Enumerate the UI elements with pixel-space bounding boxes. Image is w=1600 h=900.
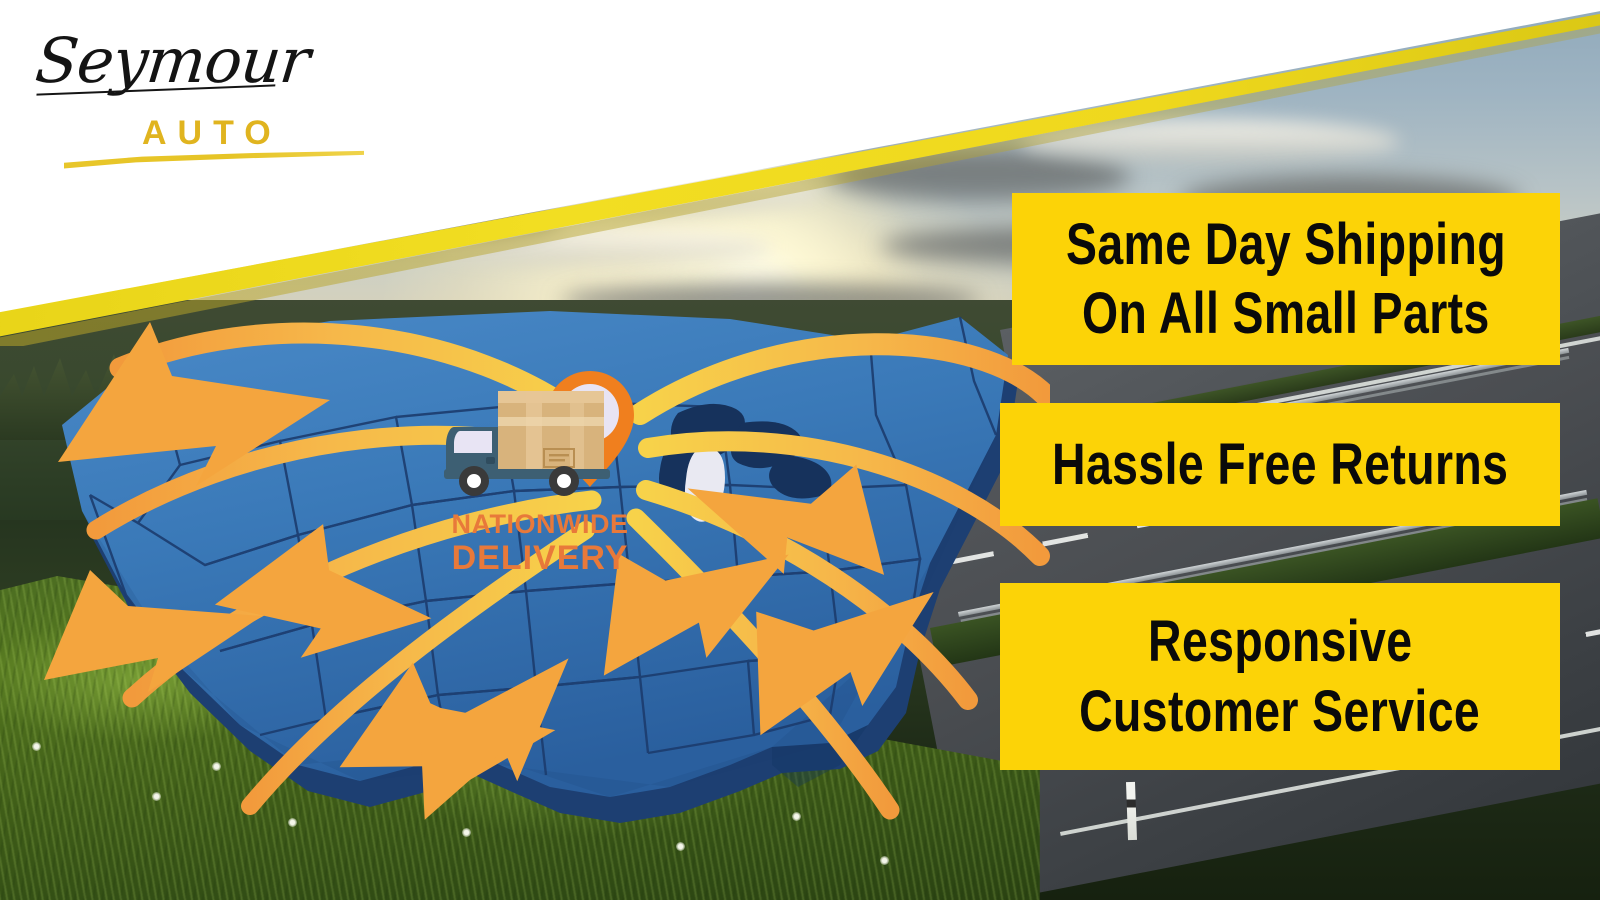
- logo-wordmark: Seymour: [32, 24, 313, 97]
- route-band: [640, 344, 1046, 414]
- feature-line2: Customer Service: [1079, 682, 1480, 741]
- promotional-banner: NATIONWIDE DELIVERY Seymour AUTO Same Da…: [0, 0, 1600, 900]
- nationwide-delivery-badge: NATIONWIDE DELIVERY: [440, 365, 660, 580]
- feature-line1: Responsive: [1148, 612, 1412, 671]
- delivery-label-line2: DELIVERY: [440, 539, 640, 578]
- feature-box-same-day-shipping[interactable]: Same Day Shipping On All Small Parts: [1012, 193, 1560, 365]
- feature-line1: Same Day Shipping: [1066, 215, 1506, 274]
- feature-box-hassle-free-returns[interactable]: Hassle Free Returns: [1000, 403, 1560, 526]
- delivery-illustration: [440, 365, 660, 515]
- feature-line1: Hassle Free Returns: [1052, 435, 1508, 494]
- logo-swoosh: [64, 150, 364, 172]
- feature-line2: On All Small Parts: [1082, 284, 1490, 343]
- logo-subtitle: AUTO: [142, 114, 282, 153]
- feature-box-responsive-customer-service[interactable]: Responsive Customer Service: [1000, 583, 1560, 770]
- shipping-box-icon: [498, 391, 604, 473]
- brand-logo[interactable]: Seymour AUTO: [36, 22, 356, 172]
- delivery-label-line1: NATIONWIDE: [440, 509, 640, 540]
